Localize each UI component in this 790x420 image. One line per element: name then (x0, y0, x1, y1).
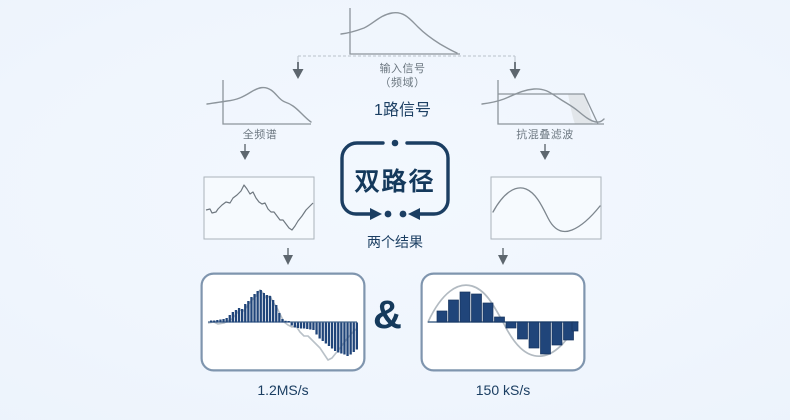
center-badge-caption: 两个结果 (337, 232, 453, 252)
right-result-rate: 150 kS/s (420, 382, 586, 398)
arrow-down-right-stage2 (540, 144, 550, 160)
chart-right-sampled-bars (420, 272, 586, 372)
left-result-rate: 1.2MS/s (200, 382, 366, 398)
arrow-down-to-full-spectrum (293, 62, 304, 79)
chart-full-spectrum (205, 78, 315, 130)
chart-left-sampled-bars (200, 272, 366, 372)
arrow-down-to-antialias (510, 62, 521, 79)
input-signal-label-line2: （频域） (340, 76, 465, 90)
input-signal-label-line1: 输入信号 (340, 62, 465, 76)
chart-input-signal-spectrum (340, 6, 465, 58)
antialias-filter-label: 抗混叠滤波 (480, 128, 610, 142)
full-spectrum-label: 全频谱 (205, 128, 315, 142)
arrow-down-left-stage3 (283, 248, 293, 265)
chart-antialias-filter (480, 78, 610, 130)
input-signal-caption: 1路信号 (330, 96, 475, 120)
arrow-down-right-stage3 (498, 248, 508, 265)
chart-right-sine-waveform (490, 176, 602, 240)
center-badge-label: 双路径 (337, 162, 453, 198)
diagram-canvas: 输入信号 （频域） 1路信号 全频谱 抗混叠滤波 双路径 两个结果 (0, 0, 790, 420)
chart-left-noisy-waveform (203, 176, 315, 240)
arrow-down-left-stage2 (240, 144, 250, 160)
combiner-ampersand: & (373, 295, 402, 335)
